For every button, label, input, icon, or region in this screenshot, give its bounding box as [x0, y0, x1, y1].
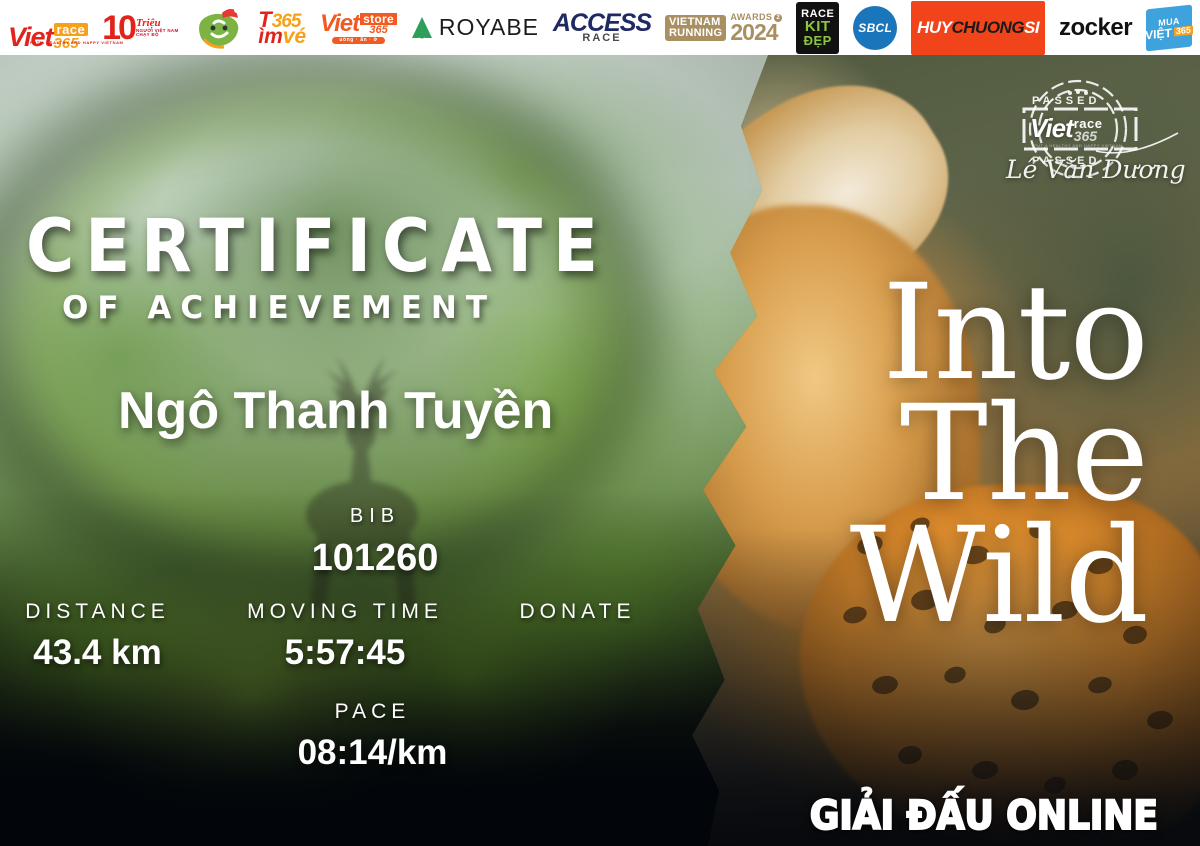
- stat-pace: PACE 08:14/km: [230, 700, 515, 773]
- chay-bo-line: CHẠY BỘ: [136, 33, 179, 38]
- huychuong-huy-text: HUY: [917, 19, 951, 36]
- signature: Lê Văn Dương: [1006, 155, 1176, 184]
- stat-pace-label: PACE: [230, 700, 515, 724]
- stat-pace-value: 08:14/km: [230, 733, 515, 773]
- awards-vietnam-line: VIETNAM: [669, 17, 722, 28]
- stat-distance-value: 43.4 km: [0, 633, 205, 673]
- stat-distance-label: DISTANCE: [0, 600, 205, 624]
- sponsor-logo-vietstore365[interactable]: Viet store 365 uống · ăn · ở: [320, 5, 397, 51]
- stat-bib-value: 101260: [235, 537, 515, 580]
- stat-moving-time-value: 5:57:45: [200, 633, 490, 673]
- sponsor-logo-sbcl[interactable]: SBCL: [853, 6, 897, 50]
- sponsor-logo-access-race[interactable]: ACCESS RACE: [553, 5, 651, 51]
- stat-bib-label: BIB: [235, 505, 515, 528]
- awards-running-line: RUNNING: [669, 28, 722, 39]
- vietstore-brand-text: Viet: [320, 12, 359, 36]
- page-title: CERTIFICATE: [26, 210, 609, 283]
- stat-distance: DISTANCE 43.4 km: [0, 600, 205, 673]
- event-title: Into The Wild: [850, 273, 1148, 637]
- zocker-wordmark: zocker: [1059, 16, 1132, 40]
- mascot-icon: [192, 7, 244, 49]
- sponsor-logo-zocker[interactable]: zocker: [1059, 5, 1132, 51]
- sbcl-wordmark: SBCL: [858, 22, 892, 34]
- vietrace-brand-text: Viet: [8, 24, 53, 51]
- stat-moving-time: MOVING TIME 5:57:45: [200, 600, 490, 673]
- sponsor-logo-vietnam-running-awards[interactable]: VIETNAM RUNNING AWARDS 2 2024: [665, 5, 782, 51]
- stat-bib: BIB 101260: [235, 505, 515, 580]
- huychuong-chuong-text: CHUONG: [951, 19, 1024, 36]
- athlete-name: Ngô Thanh Tuyền: [118, 385, 553, 437]
- page-subtitle: OF ACHIEVEMENT: [62, 293, 496, 324]
- sponsor-logo-royabe[interactable]: ROYABE: [411, 5, 539, 51]
- timve-ve-text: vé: [283, 26, 306, 47]
- awards-year: 2024: [730, 22, 777, 42]
- timve-tim-text: ìm: [258, 26, 283, 47]
- sponsor-logo-huy-chuong-si[interactable]: HUYCHUONGSI: [911, 1, 1045, 55]
- racekit-kit-line: KIT: [805, 20, 831, 34]
- sponsor-logo-race-kit-dep[interactable]: RACE KIT ĐẸP: [796, 2, 839, 54]
- sponsor-logo-vietrace365[interactable]: Viet race 365 PUT A HEALTHY AND HAPPY VI…: [8, 5, 88, 51]
- stat-donate-label: DONATE: [455, 600, 700, 624]
- stat-moving-time-label: MOVING TIME: [200, 600, 490, 624]
- seal-brand-num: 365: [1074, 128, 1097, 144]
- access-race-sublabel: RACE: [582, 33, 621, 44]
- muaviet-365-badge: 365: [1174, 25, 1193, 36]
- racekit-dep-line: ĐẸP: [804, 34, 832, 47]
- royabe-leaf-icon: [411, 16, 433, 40]
- online-tournament-badge: GIẢI ĐẤU ONLINE: [810, 793, 1158, 839]
- sponsor-logo-10-trieu[interactable]: 10 Triệu NGƯỜI VIỆT NAM CHẠY BỘ: [102, 5, 178, 51]
- seal-brand-tagline: PUT A HEALTHY AND HAPPY VIETNAM: [1034, 143, 1123, 148]
- royabe-wordmark: ROYABE: [439, 16, 539, 39]
- certificate-canvas: CERTIFICATE OF ACHIEVEMENT Ngô Thanh Tuy…: [0, 55, 1200, 846]
- stat-donate: DONATE: [455, 600, 700, 633]
- sponsor-logo-mascot[interactable]: [192, 7, 244, 49]
- seal-passed-top: PASSED: [1032, 95, 1100, 107]
- vietstore-store-badge: store: [360, 13, 397, 25]
- vietstore-tagline: uống · ăn · ở: [332, 37, 384, 44]
- sponsor-logo-bar: Viet race 365 PUT A HEALTHY AND HAPPY VI…: [0, 0, 1200, 55]
- sponsor-logo-mua-viet-365[interactable]: MUA VIỆT 365: [1146, 4, 1192, 51]
- vietrace-race-badge: race: [54, 23, 89, 36]
- event-title-line-2: The: [850, 394, 1148, 515]
- seal-brand-text: Viet: [1030, 113, 1073, 144]
- muaviet-viet-line: VIỆT: [1145, 26, 1172, 41]
- trieu-word: Triệu: [136, 18, 179, 29]
- event-title-line-3: Wild: [850, 516, 1148, 637]
- ten-million-number: 10: [102, 11, 134, 45]
- huychuong-si-text: SI: [1024, 19, 1039, 36]
- vietstore-365-text: 365: [369, 25, 387, 36]
- sponsor-logo-timve365[interactable]: T 365 ìm vé: [258, 5, 306, 51]
